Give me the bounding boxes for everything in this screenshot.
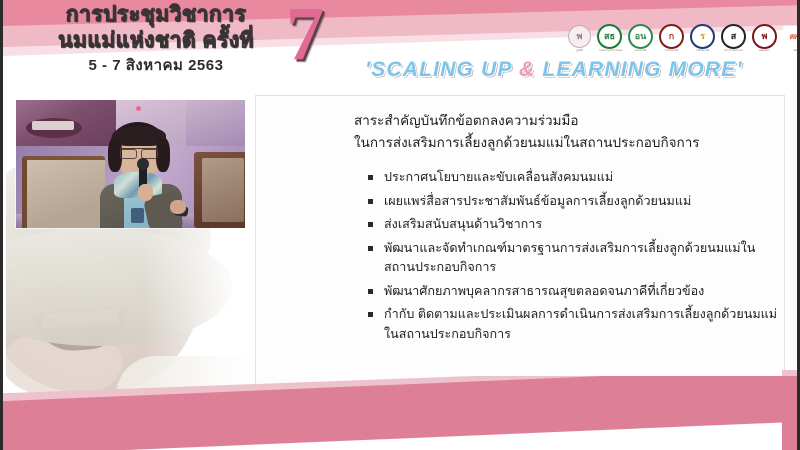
conference-edition-number: 7 xyxy=(286,0,324,72)
royal-seal-logo: พ มูลนิธิ xyxy=(568,25,591,48)
speaker-figure xyxy=(94,122,190,228)
conference-title-line1: การประชุมวิชาการ xyxy=(21,2,291,27)
square-bullet-icon xyxy=(368,246,373,251)
slide-content-panel: สาระสำคัญบันทึกข้อตกลงความร่วมมือ ในการส… xyxy=(255,95,785,392)
tagline-ampersand: & xyxy=(519,58,535,81)
slide-header-banner: การประชุมวิชาการ นมแม่แห่งชาติ ครั้งที่ … xyxy=(3,0,800,92)
speaker-hand-left xyxy=(138,184,153,201)
list-item-label: พัฒนาและจัดทำเกณฑ์มาตรฐานการส่งเสริมการเ… xyxy=(384,241,755,275)
list-item-label: กำกับ ติดตามและประเมินผลการดำเนินการส่งเ… xyxy=(384,307,777,341)
backdrop-accent-dot xyxy=(136,106,141,111)
thai-pediatric-logo: ก ราชวิทยาลัย xyxy=(659,24,684,49)
bottom-pink-ribbon xyxy=(3,376,800,450)
microphone-head xyxy=(137,158,149,170)
content-heading-line1: สาระสำคัญบันทึกข้อตกลงความร่วมมือ xyxy=(354,110,774,132)
conference-date: 5 - 7 สิงหาคม 2563 xyxy=(21,56,291,76)
square-bullet-icon xyxy=(368,289,373,294)
list-item: พัฒนาศักยภาพบุคลากรสาธารณสุขตลอดจนภาคีที… xyxy=(368,282,778,302)
tagline-suffix: LEARNING MORE' xyxy=(535,58,742,81)
square-bullet-icon xyxy=(368,199,373,204)
list-item: ประกาศนโยบายและขับเคลื่อนสังคมนมแม่ xyxy=(368,168,778,188)
square-bullet-icon xyxy=(368,312,373,317)
thaihealth-sss-logo: สสส สสส. xyxy=(783,26,800,47)
list-item-label: เผยแพร่สื่อสารประชาสัมพันธ์ข้อมูลการเลี้… xyxy=(384,194,691,208)
list-item: พัฒนาและจัดทำเกณฑ์มาตรฐานการส่งเสริมการเ… xyxy=(368,239,778,278)
royal-college-logo: ร ราชวิทยาลัย xyxy=(690,24,715,49)
speaker-hair-side-right xyxy=(156,138,170,172)
stage-backdrop-right xyxy=(186,100,245,146)
square-bullet-icon xyxy=(368,222,373,227)
tagline-prefix: 'SCALING UP xyxy=(365,58,519,81)
list-item: กำกับ ติดตามและประเมินผลการดำเนินการส่งเ… xyxy=(368,305,778,344)
conference-title-block: การประชุมวิชาการ นมแม่แห่งชาติ ครั้งที่ … xyxy=(21,2,291,76)
speaker-hand-right xyxy=(170,200,186,214)
square-bullet-icon xyxy=(368,175,373,180)
presentation-slide: การประชุมวิชาการ นมแม่แห่งชาติ ครั้งที่ … xyxy=(0,0,800,450)
content-bullet-list: ประกาศนโยบายและขับเคลื่อนสังคมนมแม่ เผยแ… xyxy=(368,168,778,348)
speaker-badge xyxy=(131,208,144,223)
backdrop-teeth xyxy=(32,121,74,130)
speaker-glasses xyxy=(120,148,158,158)
list-item: เผยแพร่สื่อสารประชาสัมพันธ์ข้อมูลการเลี้… xyxy=(368,192,778,212)
ribbon-main-band xyxy=(3,376,800,450)
content-heading-line2: ในการส่งเสริมการเลี้ยงลูกด้วยนมแม่ในสถาน… xyxy=(354,132,774,154)
armchair-right-seat xyxy=(202,158,244,222)
medical-council-logo: พ แพทยสภา xyxy=(752,24,777,49)
list-item: ส่งเสริมสนับสนุนด้านวิชาการ xyxy=(368,215,778,235)
list-item-label: พัฒนาศักยภาพบุคลากรสาธารณสุขตลอดจนภาคีที… xyxy=(384,284,704,298)
list-item-label: ประกาศนโยบายและขับเคลื่อนสังคมนมแม่ xyxy=(384,170,613,184)
speaker-video-thumbnail[interactable] xyxy=(16,100,245,228)
list-item-label: ส่งเสริมสนับสนุนด้านวิชาการ xyxy=(384,217,542,231)
nursing-council-logo: ส สภาการพยาบาล xyxy=(721,24,746,49)
ministry-public-health-logo: สธ กระทรวงสาธารณสุข xyxy=(597,24,622,49)
organizer-logo-row: พ มูลนิธิ สธ กระทรวงสาธารณสุข อน กรมอนาม… xyxy=(568,24,800,49)
conference-title-line2: นมแม่แห่งชาติ ครั้งที่ xyxy=(21,28,291,53)
content-heading: สาระสำคัญบันทึกข้อตกลงความร่วมมือ ในการส… xyxy=(354,110,774,154)
slide-body: สาระสำคัญบันทึกข้อตกลงความร่วมมือ ในการส… xyxy=(3,92,800,450)
conference-tagline: 'SCALING UP & LEARNING MORE' xyxy=(365,58,743,82)
armchair-left xyxy=(22,156,105,228)
health-department-logo: อน กรมอนามัย xyxy=(628,24,653,49)
